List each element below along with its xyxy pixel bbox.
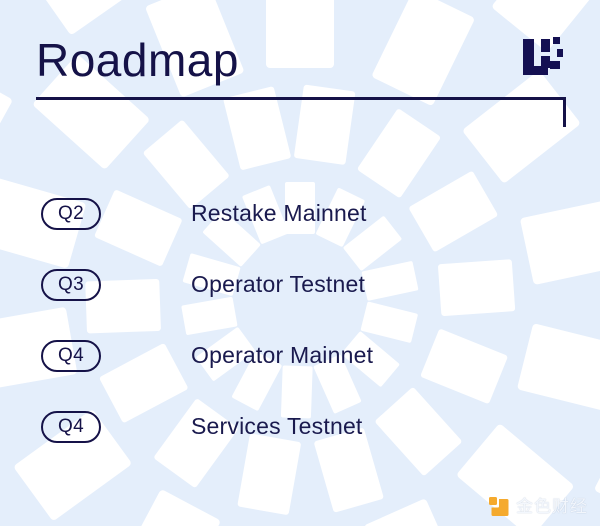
jinse-logo-icon	[488, 496, 510, 518]
watermark: 金色财经	[488, 495, 588, 519]
milestone-label: Restake Mainnet	[191, 200, 367, 227]
quarter-badge: Q2	[41, 198, 101, 230]
watermark-text: 金色财经	[516, 496, 588, 518]
tangle-l-logo-icon	[522, 36, 568, 82]
title-corner-rule	[36, 97, 566, 127]
roadmap-row: Q3 Operator Testnet	[0, 249, 600, 320]
roadmap-row: Q4 Services Testnet	[0, 391, 600, 462]
slide-header: Roadmap	[0, 0, 600, 130]
quarter-badge: Q3	[41, 269, 101, 301]
roadmap-row: Q2 Restake Mainnet	[0, 178, 600, 249]
roadmap-slide: Roadmap Q2 Restake Mainnet Q3	[0, 0, 600, 526]
milestone-label: Services Testnet	[191, 413, 363, 440]
roadmap-list: Q2 Restake Mainnet Q3 Operator Testnet Q…	[0, 178, 600, 462]
page-title: Roadmap	[36, 33, 239, 87]
roadmap-row: Q4 Operator Mainnet	[0, 320, 600, 391]
milestone-label: Operator Testnet	[191, 271, 365, 298]
milestone-label: Operator Mainnet	[191, 342, 373, 369]
quarter-badge: Q4	[41, 340, 101, 372]
quarter-badge: Q4	[41, 411, 101, 443]
